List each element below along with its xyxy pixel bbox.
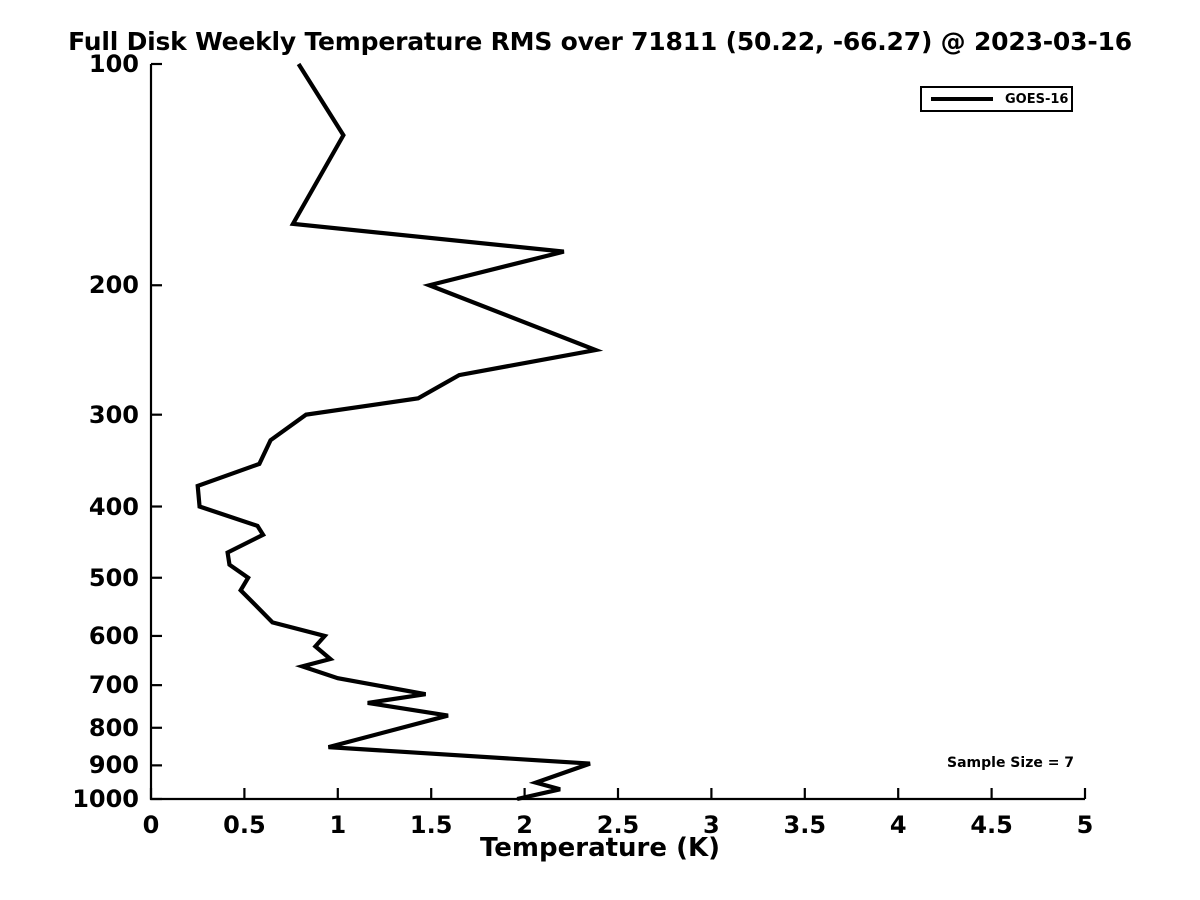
sample-size-annotation: Sample Size = 7 <box>947 755 1074 771</box>
data-line-goes-16 <box>198 64 596 799</box>
y-tick-label: 600 <box>59 622 139 650</box>
x-tick-marks <box>151 788 1085 799</box>
y-tick-label: 400 <box>59 493 139 521</box>
x-axis-title: Temperature (K) <box>0 833 1200 863</box>
y-tick-label: 300 <box>59 401 139 429</box>
y-tick-label: 800 <box>59 714 139 742</box>
legend: GOES-16 <box>920 86 1073 112</box>
y-tick-label: 1000 <box>59 785 139 813</box>
axis-frame <box>151 64 1085 799</box>
legend-swatch-goes-16 <box>931 97 993 101</box>
y-tick-label: 700 <box>59 671 139 699</box>
legend-label-goes-16: GOES-16 <box>1005 92 1068 107</box>
y-tick-label: 200 <box>59 271 139 299</box>
y-tick-label: 500 <box>59 564 139 592</box>
plot-area: 1002003004005006007008009001000 00.511.5… <box>151 64 1085 799</box>
chart-figure: Full Disk Weekly Temperature RMS over 71… <box>0 0 1200 900</box>
data-series-group <box>198 64 596 799</box>
plot-svg <box>151 64 1085 799</box>
y-tick-label: 900 <box>59 751 139 779</box>
page-title: Full Disk Weekly Temperature RMS over 71… <box>0 27 1200 56</box>
axis-spines <box>151 64 1085 799</box>
y-tick-label: 100 <box>59 50 139 78</box>
y-tick-marks <box>151 64 162 799</box>
